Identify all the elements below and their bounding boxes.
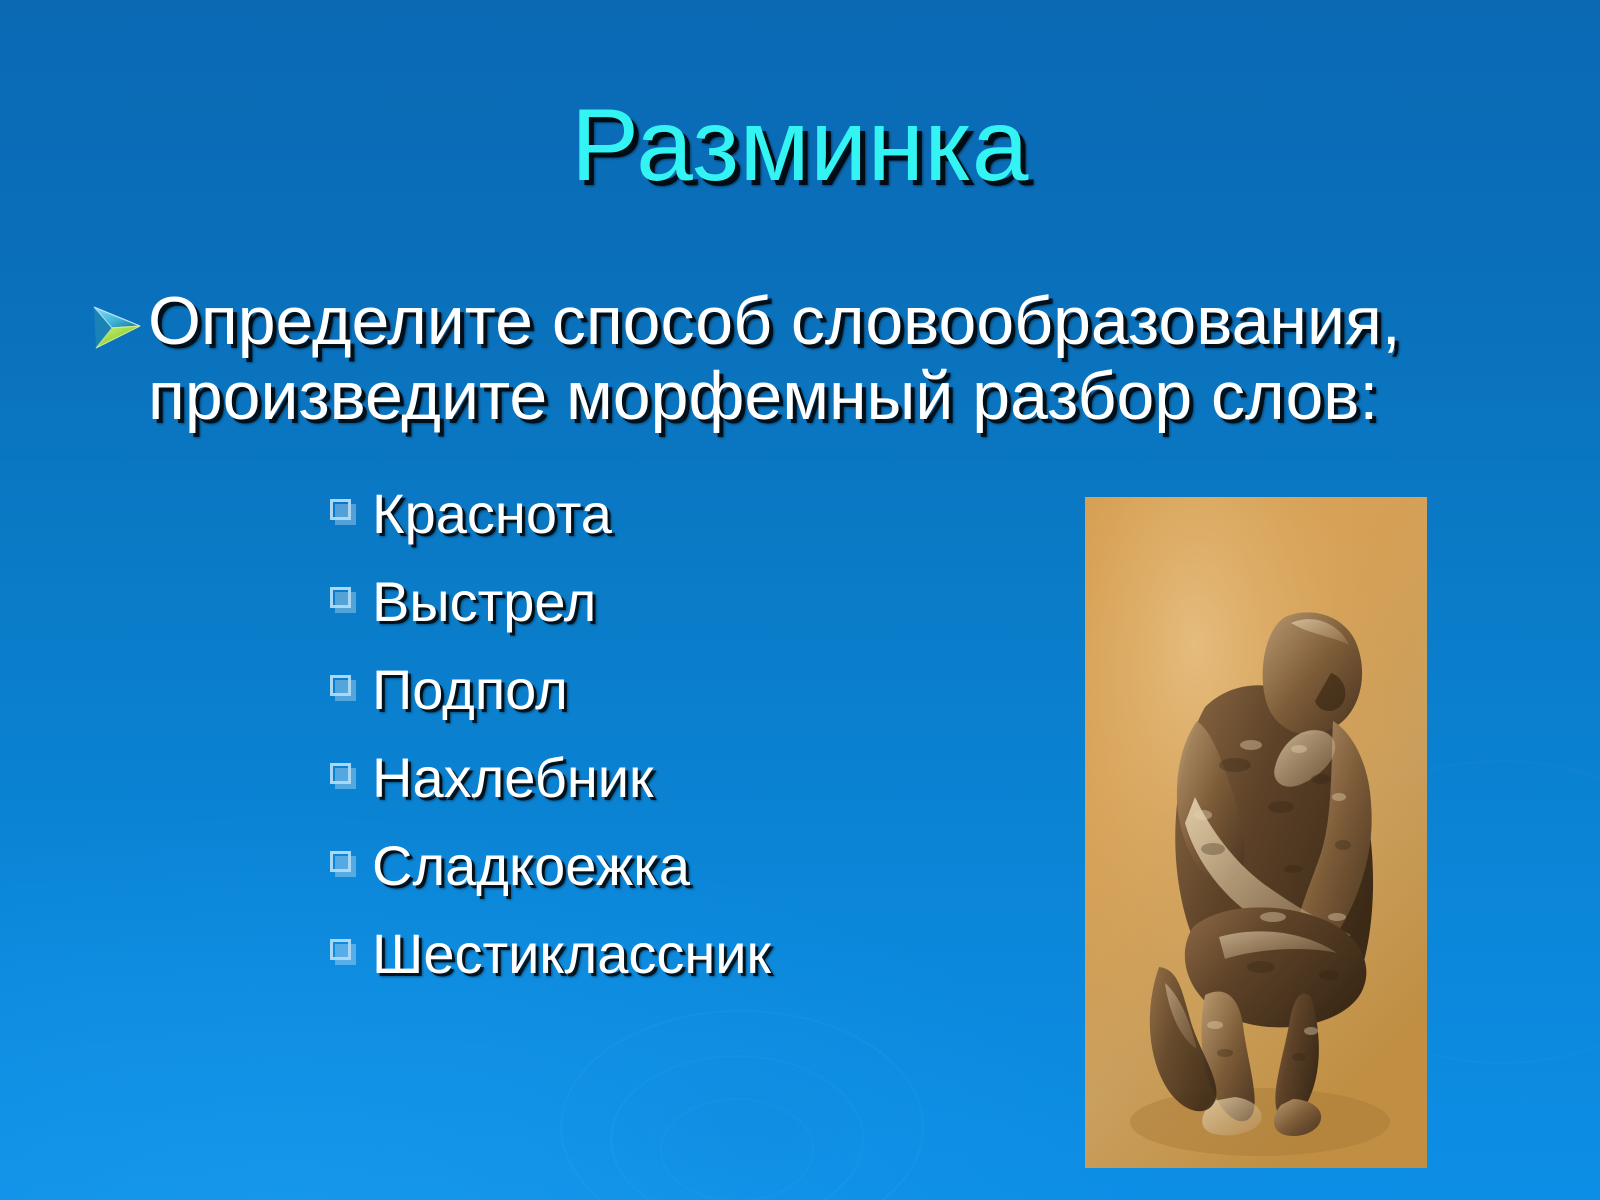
square-bullet-icon (330, 763, 356, 789)
list-item-label: Нахлебник (372, 750, 654, 806)
list-item: Шестиклассник (330, 910, 771, 998)
square-bullet-icon (330, 675, 356, 701)
list-item-label: Сладкоежка (372, 838, 690, 894)
square-bullet-icon (330, 587, 356, 613)
list-item: Сладкоежка (330, 822, 771, 910)
body-text: Определите способ словообразования, прои… (148, 284, 1506, 434)
body-bullet-row: Определите способ словообразования, прои… (86, 284, 1506, 434)
list-item-label: Выстрел (372, 574, 596, 630)
list-item: Краснота (330, 470, 771, 558)
body-content: Определите способ словообразования, прои… (86, 284, 1506, 434)
word-list: Краснота Выстрел Подпол Нахлебник Сладко… (330, 470, 771, 998)
list-item: Подпол (330, 646, 771, 734)
list-item-label: Шестиклассник (372, 926, 771, 982)
square-bullet-icon (330, 851, 356, 877)
list-item: Нахлебник (330, 734, 771, 822)
presentation-slide: Разминка (0, 0, 1600, 1200)
list-item-label: Подпол (372, 662, 568, 718)
slide-title: Разминка (0, 92, 1600, 199)
list-item-label: Краснота (372, 486, 612, 542)
square-bullet-icon (330, 939, 356, 965)
arrow-bullet-icon (86, 298, 148, 356)
square-bullet-icon (330, 499, 356, 525)
list-item: Выстрел (330, 558, 771, 646)
the-thinker-sculpture-image (1085, 497, 1427, 1168)
